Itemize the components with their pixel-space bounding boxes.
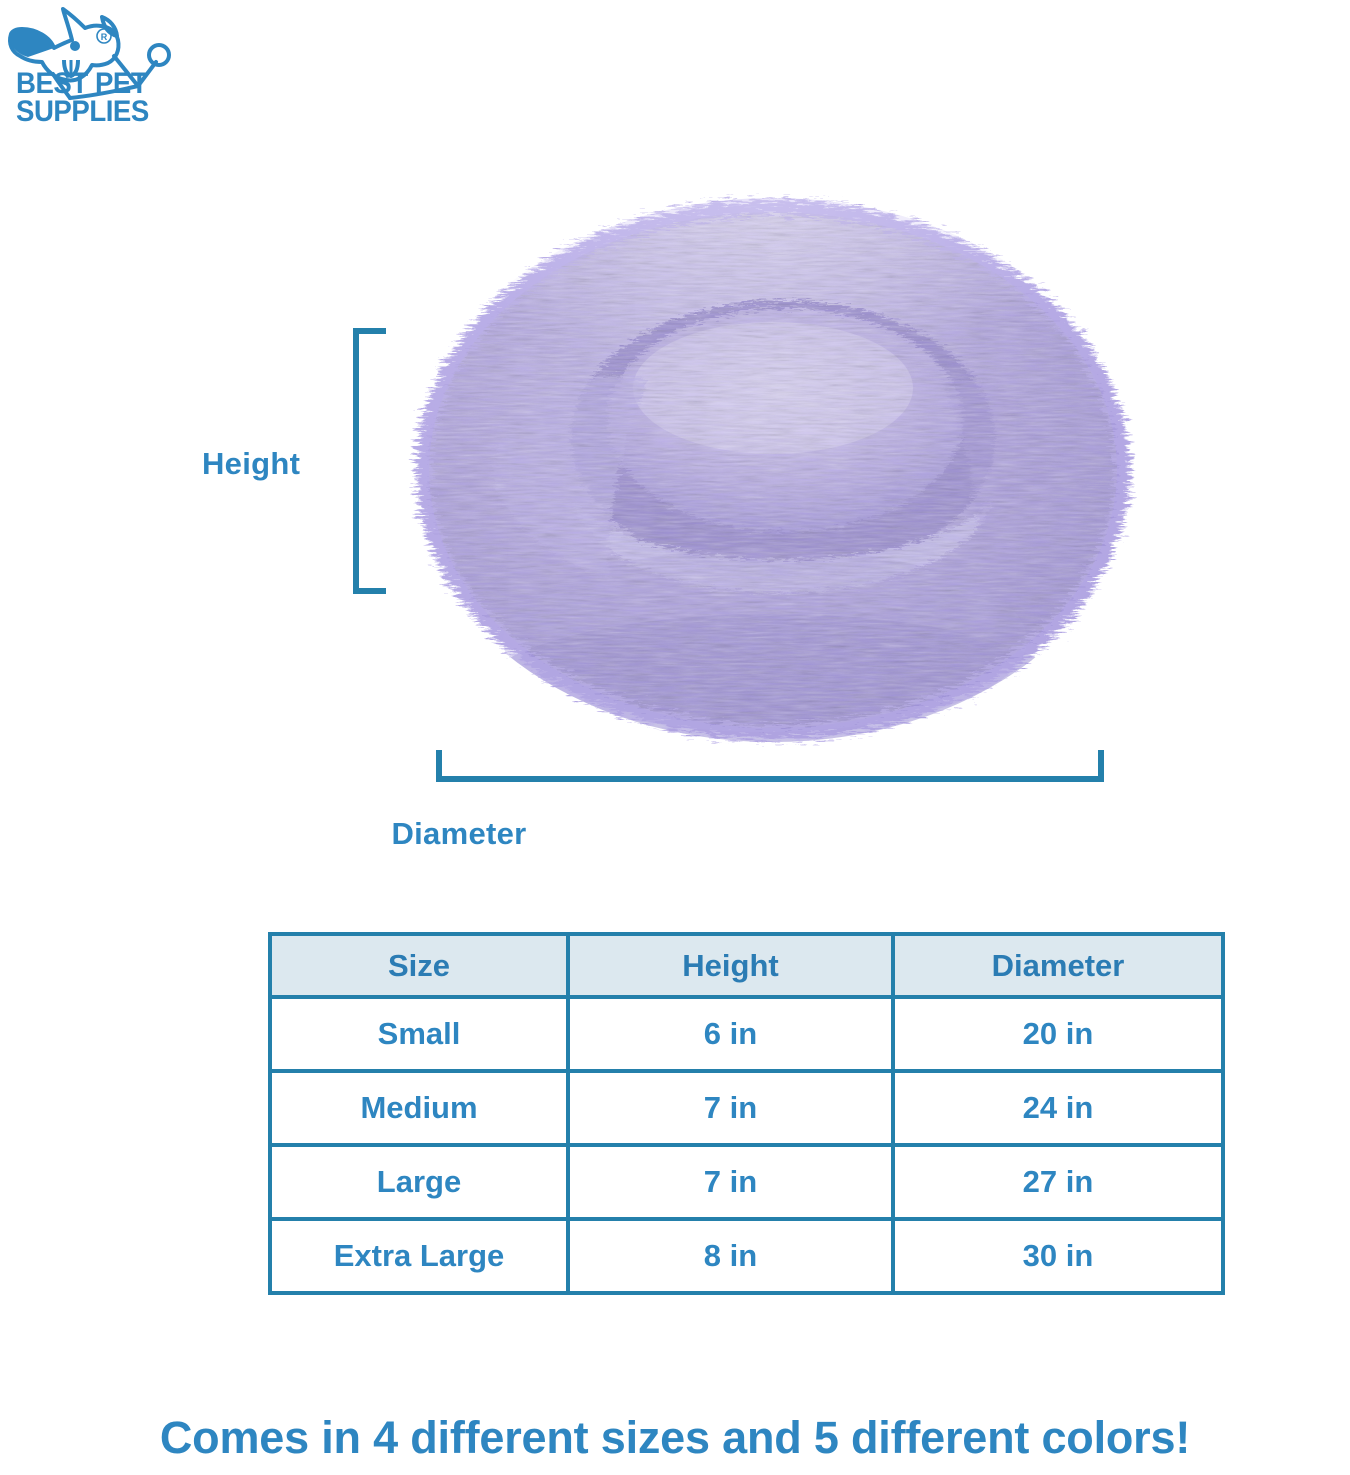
brand-wordmark-line2: SUPPLIES xyxy=(16,98,154,126)
table-row: Small 6 in 20 in xyxy=(270,997,1223,1071)
cell-height: 7 in xyxy=(568,1145,893,1219)
column-header-diameter: Diameter xyxy=(893,934,1223,997)
table-header-row: Size Height Diameter xyxy=(270,934,1223,997)
height-bracket-icon xyxy=(352,328,386,594)
diameter-label: Diameter xyxy=(0,816,1350,852)
column-header-height: Height xyxy=(568,934,893,997)
cell-height: 6 in xyxy=(568,997,893,1071)
cell-size: Medium xyxy=(270,1071,568,1145)
product-image-pet-bed xyxy=(395,170,1155,760)
cell-diameter: 24 in xyxy=(893,1071,1223,1145)
brand-logo: R BEST PET SUPPLIES xyxy=(6,4,176,130)
svg-text:R: R xyxy=(101,32,108,42)
height-label: Height xyxy=(202,446,300,482)
cell-diameter: 30 in xyxy=(893,1219,1223,1293)
brand-wordmark: BEST PET SUPPLIES xyxy=(16,70,166,125)
cell-size: Extra Large xyxy=(270,1219,568,1293)
cell-height: 8 in xyxy=(568,1219,893,1293)
cell-height: 7 in xyxy=(568,1071,893,1145)
cell-size: Large xyxy=(270,1145,568,1219)
table-row: Extra Large 8 in 30 in xyxy=(270,1219,1223,1293)
cell-diameter: 20 in xyxy=(893,997,1223,1071)
column-header-size: Size xyxy=(270,934,568,997)
size-chart-table: Size Height Diameter Small 6 in 20 in Me… xyxy=(268,932,1225,1295)
table-row: Medium 7 in 24 in xyxy=(270,1071,1223,1145)
footer-caption: Comes in 4 different sizes and 5 differe… xyxy=(0,1412,1350,1464)
cell-size: Small xyxy=(270,997,568,1071)
diameter-bracket-icon xyxy=(436,750,1104,782)
brand-wordmark-line1: BEST PET xyxy=(16,70,154,98)
cell-diameter: 27 in xyxy=(893,1145,1223,1219)
table-row: Large 7 in 27 in xyxy=(270,1145,1223,1219)
product-infographic: R BEST PET SUPPLIES xyxy=(0,0,1350,1475)
